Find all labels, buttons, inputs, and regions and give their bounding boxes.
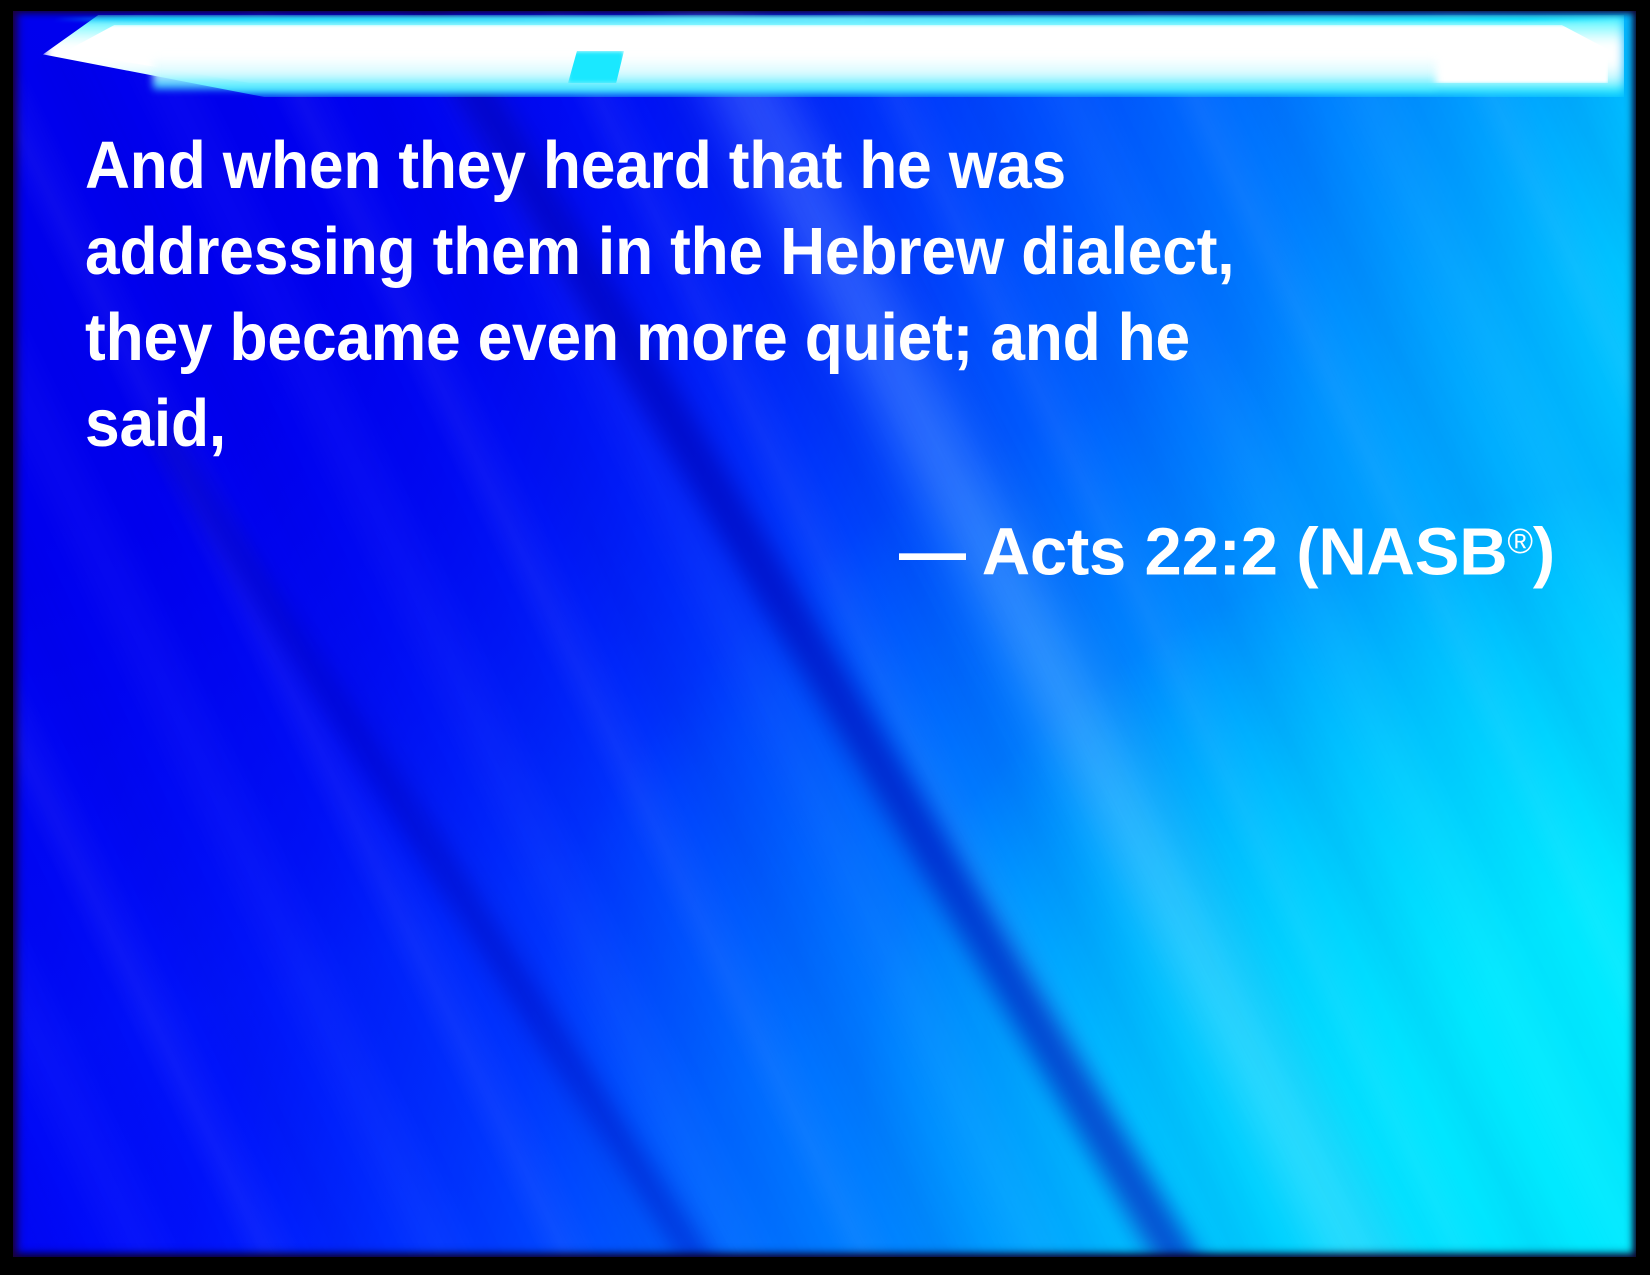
verse-text-block: And when they heard that he was addressi… — [85, 123, 1565, 596]
citation-suffix: ) — [1533, 515, 1555, 590]
verse-line-3: they became even more quiet; and he — [85, 295, 1461, 381]
registered-trademark-icon: ® — [1507, 522, 1532, 561]
slide-stage: And when they heard that he was addressi… — [13, 11, 1636, 1257]
verse-line-1: And when they heard that he was — [85, 123, 1461, 209]
scripture-slide: And when they heard that he was addressi… — [0, 0, 1650, 1275]
citation-prefix: — Acts 22:2 (NASB — [899, 515, 1507, 590]
verse-citation: — Acts 22:2 (NASB®) — [85, 499, 1565, 596]
verse-line-4: said, — [85, 381, 1461, 467]
verse-line-2: addressing them in the Hebrew dialect, — [85, 209, 1461, 295]
